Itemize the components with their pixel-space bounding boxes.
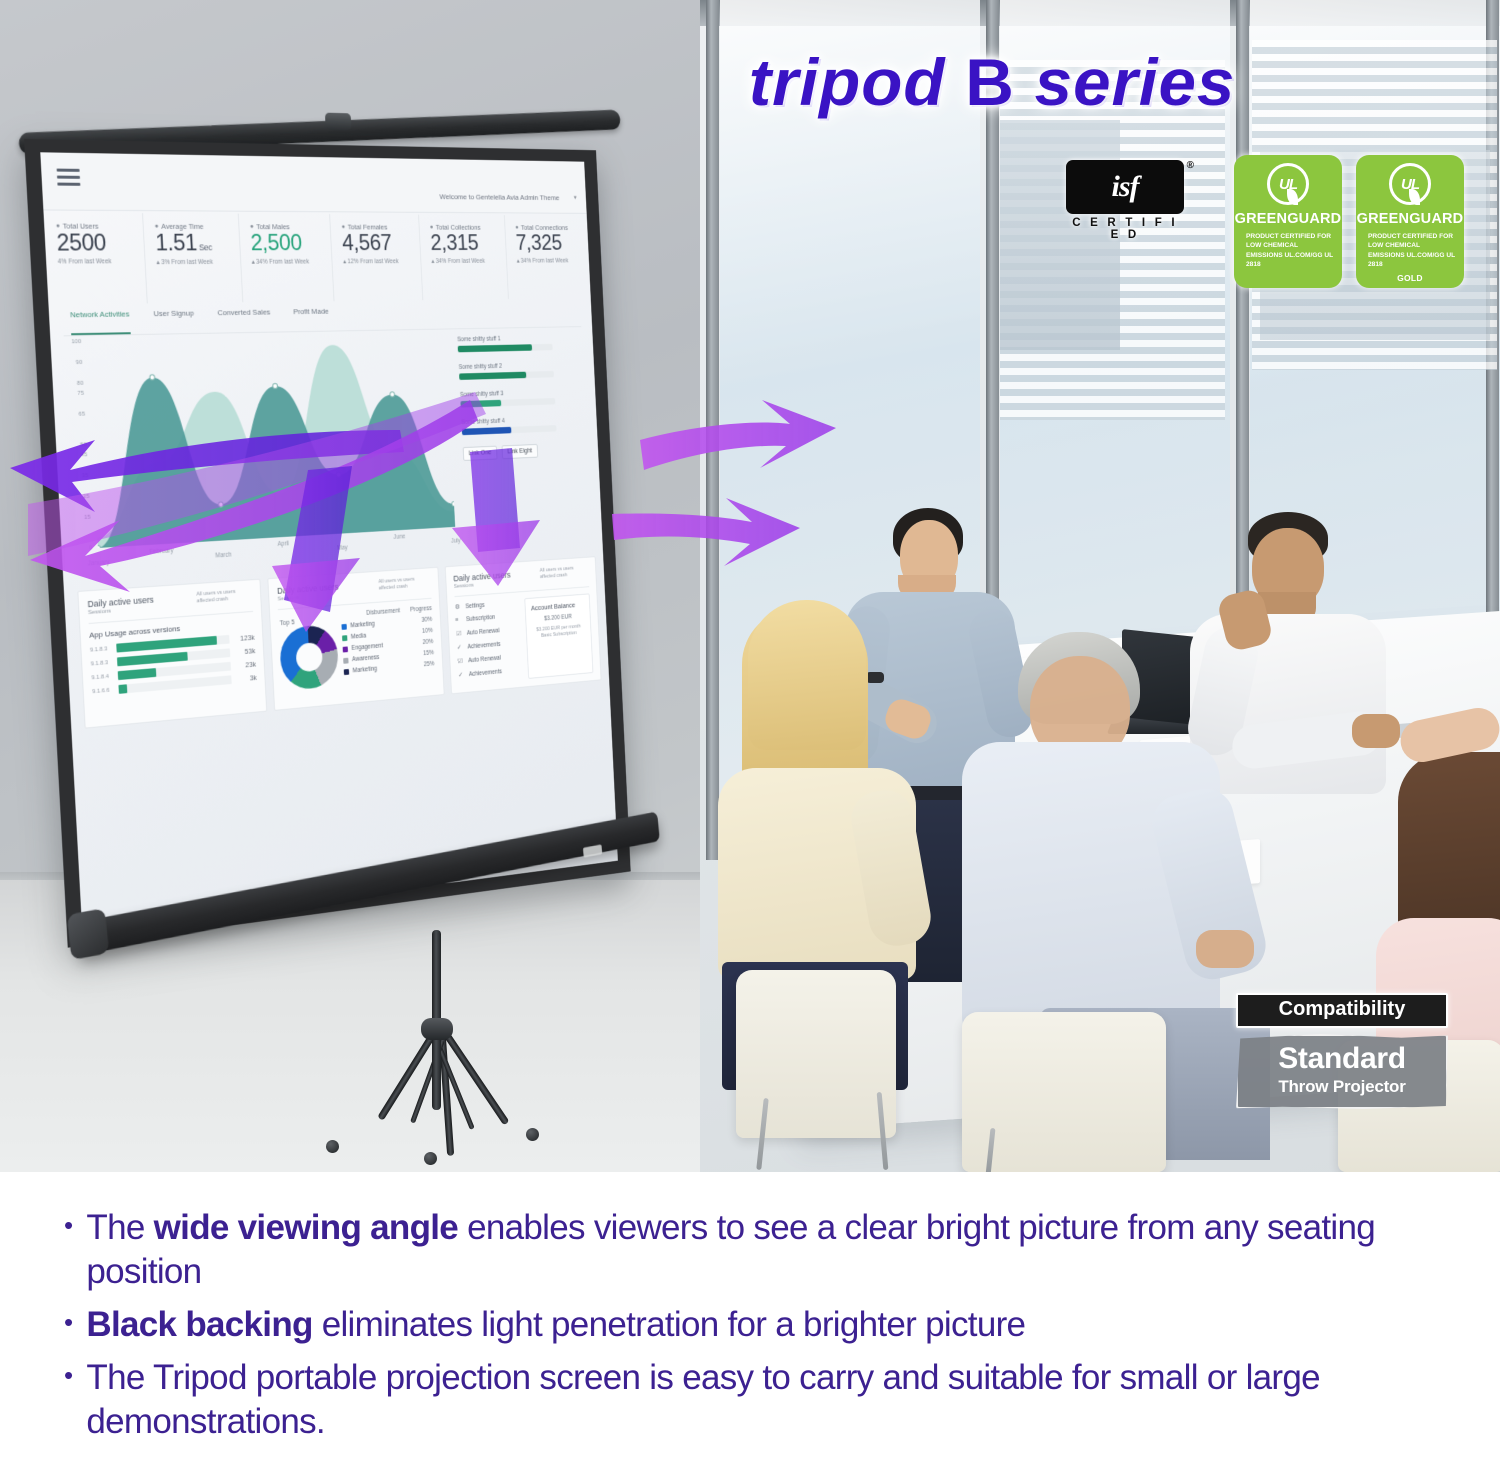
greenguard-name: GREENGUARD [1235, 211, 1342, 227]
product-marketing-image: Welcome to Gentelella Avia Admin Theme ▾… [0, 0, 1500, 1478]
legend-label: Engagement [351, 640, 419, 652]
tripod-foot [326, 1140, 339, 1153]
card-note: All users vs users affected crash [196, 588, 252, 605]
projected-dashboard: Welcome to Gentelella Avia Admin Theme ▾… [40, 152, 618, 932]
progress-item: Some shitty stuff 4 [461, 416, 556, 435]
card-note: All users vs users affected crash [378, 576, 431, 592]
progress-list: Some shitty stuff 1 Some shitty stuff 2 … [457, 335, 558, 461]
isf-mark: isf [1112, 170, 1139, 204]
legend-label: Awareness [352, 651, 420, 663]
chart-y-tick: 35 [82, 473, 89, 479]
tab-network-activities[interactable]: Network Activities [70, 310, 131, 336]
tripod-hub [421, 1018, 453, 1040]
dashboard-topbar: Welcome to Gentelella Avia Admin Theme ▾ [40, 152, 586, 214]
chart-y-tick: 50 [80, 442, 87, 448]
chart-y-tick: 65 [79, 411, 86, 417]
settings-item-achievements[interactable]: ✓Achievements [457, 639, 520, 652]
chart-x-tick: January [88, 559, 110, 567]
chart-y-tick: 15 [84, 514, 91, 520]
stat-card: ●Total Collections 2,315 ▴ 34% From last… [418, 215, 508, 301]
settings-item-auto-renewal-2[interactable]: ☑Auto Renewal [457, 652, 520, 665]
settings-item-settings[interactable]: ⚙Settings [455, 599, 518, 611]
legend-value: 30% [421, 616, 432, 623]
tripod-foot [424, 1152, 437, 1165]
bullet-dot: • [64, 1206, 72, 1294]
tripod-foot [526, 1128, 539, 1141]
title-part-1: tripod [749, 45, 966, 119]
chart-svg [87, 335, 455, 548]
tab-profit-made[interactable]: Profit Made [293, 307, 330, 331]
stat-sub: 4% From last Week [58, 258, 139, 265]
bullet-bold: Black backing [86, 1305, 312, 1344]
bullet-dot: • [64, 1356, 72, 1444]
donut-legend: Marketing30% Media10% Engagement20% Awar… [342, 616, 435, 685]
stat-sub: ▴ 34% From last Week [251, 258, 327, 266]
stat-cards: ●Total Users 2500 4% From last Week ●Ave… [44, 212, 591, 304]
progress-item: Some shitty stuff 1 [457, 335, 552, 353]
stat-card: ●Total Males 2,500 ▴ 34% From last Week [237, 214, 334, 303]
stat-number: 1.51 [155, 230, 198, 256]
stat-value: 2,500 [250, 231, 327, 257]
progress-item: Some shitty stuff 3 [460, 389, 555, 408]
progress-label: Some shitty stuff 2 [459, 362, 554, 371]
chart-x-tick: July [451, 538, 461, 545]
chart-y-tick: 45 [81, 453, 88, 459]
settings-label: Achievements [467, 641, 500, 650]
chart-data-point [273, 384, 278, 389]
top5-label: Top 5 [280, 619, 295, 627]
stat-value: 2,315 [430, 231, 501, 256]
stat-value: 2500 [56, 231, 139, 258]
settings-label: Achievements [469, 668, 502, 677]
chart-x-tick: April [277, 540, 289, 547]
chart-data-point [95, 545, 100, 548]
link-buttons: Link One Link Eight [463, 443, 558, 461]
compatibility-heading: Compatibility [1236, 993, 1448, 1028]
greenguard-gold-badge: UL GREENGUARD PRODUCT CERTIFIED FOR LOW … [1356, 155, 1464, 288]
welcome-text: Welcome to Gentelella Avia Admin Theme [439, 193, 559, 202]
bullet-text: The Tripod portable projection screen is… [86, 1356, 1440, 1444]
settings-list: ⚙Settings ≡Subscription ☑Auto Renewal ✓A… [455, 599, 522, 686]
title-part-2: B [965, 45, 1015, 119]
chart-y-tick: 90 [76, 360, 83, 366]
stat-value: 1.51Sec [155, 231, 234, 257]
settings-item-auto-renewal[interactable]: ☑Auto Renewal [456, 625, 519, 637]
legend-label: Media [351, 629, 419, 641]
card-note: All users vs users affected crash [540, 565, 589, 581]
settings-label: Settings [465, 602, 484, 610]
usage-value: 53k [236, 646, 256, 656]
chevron-down-icon[interactable]: ▾ [574, 194, 577, 201]
stat-card: ●Total Connections 7,325 ▴ 34% From last… [504, 215, 591, 299]
greenguard-badge: UL GREENGUARD PRODUCT CERTIFIED FOR LOW … [1234, 155, 1342, 288]
settings-item-subscription[interactable]: ≡Subscription [455, 612, 518, 623]
chart-data-point [390, 392, 395, 397]
product-title: tripod B series [749, 44, 1494, 120]
check-icon: ✓ [458, 671, 465, 679]
clock-icon: ● [154, 223, 158, 230]
link-eight-button[interactable]: Link Eight [502, 444, 538, 459]
bullet-item: • Black backing eliminates light penetra… [64, 1303, 1440, 1347]
version-label: 9.1.8.3 [90, 646, 111, 654]
bottom-cards: Daily active users Sessions All users vs… [77, 556, 601, 728]
chart-data-point [150, 375, 155, 380]
tab-user-signup[interactable]: User Signup [153, 309, 195, 334]
version-label: 9.1.8.4 [91, 673, 112, 681]
column-disbursement: Disbursement [366, 608, 400, 617]
chart-y-tick: 80 [77, 380, 84, 386]
progress-item: Some shitty stuff 2 [459, 362, 554, 380]
bullet-text: The wide viewing angle enables viewers t… [86, 1206, 1440, 1294]
chart-y-tick: 0 [89, 545, 92, 551]
isf-logo: isf [1066, 160, 1184, 214]
usage-value: 23k [236, 660, 256, 670]
version-label: 9.1.6.6 [92, 687, 113, 695]
wristwatch [866, 672, 884, 683]
settings-label: Auto Renewal [468, 654, 501, 663]
column-progress: Progress [410, 605, 432, 613]
screen-end-cap [67, 908, 110, 960]
settings-item-achievements-2[interactable]: ✓Achievements [458, 666, 521, 679]
bullet-text: Black backing eliminates light penetrati… [86, 1303, 1025, 1347]
balance-amount: $3.200 EUR [531, 613, 584, 624]
screen-frame: Welcome to Gentelella Avia Admin Theme ▾… [24, 139, 631, 948]
balance-note: $3.200 EUR per month Basic Subscription [532, 623, 585, 640]
chart-y-tick: 100 [71, 339, 81, 345]
product-photo: Welcome to Gentelella Avia Admin Theme ▾… [0, 0, 1500, 1172]
title-part-3: series [1015, 45, 1236, 119]
stat-sub: ▴ 34% From last Week [517, 257, 585, 264]
screen-hook [325, 113, 352, 131]
bullet-pre: The Tripod portable projection screen is… [86, 1358, 1319, 1441]
donut-chart [279, 624, 340, 691]
list-icon: ≡ [455, 617, 462, 624]
stat-sub: ▴ 3% From last Week [156, 258, 235, 266]
bullet-bold: wide viewing angle [154, 1208, 458, 1247]
user-icon: ● [56, 223, 60, 230]
version-label: 9.1.8.3 [91, 659, 112, 667]
compatibility-line-1: Standard [1244, 1044, 1440, 1074]
chart-y-tick: 25 [83, 494, 90, 500]
user-icon: ● [250, 223, 254, 230]
progress-label: Some shitty stuff 1 [457, 335, 552, 343]
chair [736, 970, 896, 1138]
stat-unit: Sec [199, 243, 212, 253]
stat-sub: ▴ 34% From last Week [431, 257, 501, 265]
registered-trademark-icon: ® [1187, 160, 1194, 171]
greenguard-body: PRODUCT CERTIFIED FOR LOW CHEMICAL EMISS… [1364, 232, 1456, 269]
usage-value: 123k [235, 633, 255, 643]
gear-icon: ⚙ [455, 603, 462, 611]
feature-bullets: • The wide viewing angle enables viewers… [0, 1172, 1500, 1478]
chart-data-point [218, 502, 223, 507]
chart-y-tick: 75 [77, 391, 84, 397]
card-app-usage: Daily active users Sessions All users vs… [77, 579, 267, 729]
network-activities-chart: 1009080756550453525150 JanuaryFebruaryMa… [64, 335, 456, 576]
bullet-post: eliminates light penetration for a brigh… [313, 1305, 1026, 1344]
greenguard-body: PRODUCT CERTIFIED FOR LOW CHEMICAL EMISS… [1242, 232, 1334, 269]
legend-value: 20% [422, 639, 433, 646]
stat-sub: ▴ 12% From last Week [343, 257, 416, 265]
ul-logo-icon: UL [1389, 163, 1431, 205]
chart-x-tick: March [215, 552, 232, 560]
compatibility-line-2: Throw Projector [1244, 1077, 1440, 1097]
balance-title: Account Balance [531, 600, 584, 612]
chart-x-tick: February [149, 547, 173, 555]
stat-value: 4,567 [342, 231, 416, 256]
account-balance-panel: Account Balance $3.200 EUR $3.200 EUR pe… [524, 593, 593, 679]
legend-item: Marketing25% [344, 661, 435, 675]
stat-card: ●Total Users 2500 4% From last Week [44, 212, 147, 304]
chart-data-point [452, 501, 455, 506]
greenguard-gold-text: GOLD [1397, 273, 1423, 283]
hamburger-icon[interactable] [57, 169, 81, 190]
greenguard-name: GREENGUARD [1357, 211, 1464, 227]
legend-value: 25% [424, 661, 435, 668]
stat-card: ●Average Time 1.51Sec ▴ 3% From last Wee… [142, 213, 242, 303]
check-icon: ✓ [457, 643, 464, 651]
chart-data-point [336, 472, 341, 477]
chart-x-tick: May [337, 545, 348, 552]
checkbox-icon: ☑ [457, 657, 464, 665]
link-one-button[interactable]: Link One [463, 446, 498, 461]
isf-certified-badge: isf ® C E R T I F I E D [1066, 160, 1194, 238]
bullet-dot: • [64, 1303, 72, 1347]
stat-card: ●Total Females 4,567 ▴ 12% From last Wee… [330, 214, 423, 301]
bullet-item: • The Tripod portable projection screen … [64, 1356, 1440, 1444]
chart-plot-area [87, 335, 455, 548]
tripod-projector-screen: Welcome to Gentelella Avia Admin Theme ▾… [46, 140, 746, 1090]
tab-converted-sales[interactable]: Converted Sales [217, 308, 271, 333]
chart-x-tick: June [393, 534, 405, 541]
usage-value: 3k [237, 673, 257, 683]
card-top5: Daily active users Sessions All users vs… [268, 567, 445, 711]
dashboard-tabs: Network Activities User Signup Converted… [62, 304, 581, 337]
card-settings: Daily active users Sessions All users vs… [445, 556, 602, 694]
settings-label: Subscription [466, 614, 495, 623]
progress-label: Some shitty stuff 3 [460, 389, 555, 398]
isf-certified-text: C E R T I F I E D [1066, 217, 1184, 241]
bullet-item: • The wide viewing angle enables viewers… [64, 1206, 1440, 1294]
legend-value: 10% [422, 627, 433, 634]
checkbox-icon: ☑ [456, 630, 463, 638]
ul-logo-icon: UL [1267, 163, 1309, 205]
stat-value: 7,325 [515, 232, 584, 256]
bullet-pre: The [86, 1208, 153, 1247]
settings-label: Auto Renewal [467, 627, 500, 636]
compatibility-callout: Compatibility Standard Throw Projector [1236, 993, 1448, 1109]
legend-label: Marketing [350, 617, 418, 629]
legend-value: 15% [423, 650, 434, 657]
progress-label: Some shitty stuff 4 [461, 416, 556, 426]
compatibility-body: Standard Throw Projector [1236, 1034, 1448, 1109]
legend-label: Marketing [353, 662, 421, 674]
